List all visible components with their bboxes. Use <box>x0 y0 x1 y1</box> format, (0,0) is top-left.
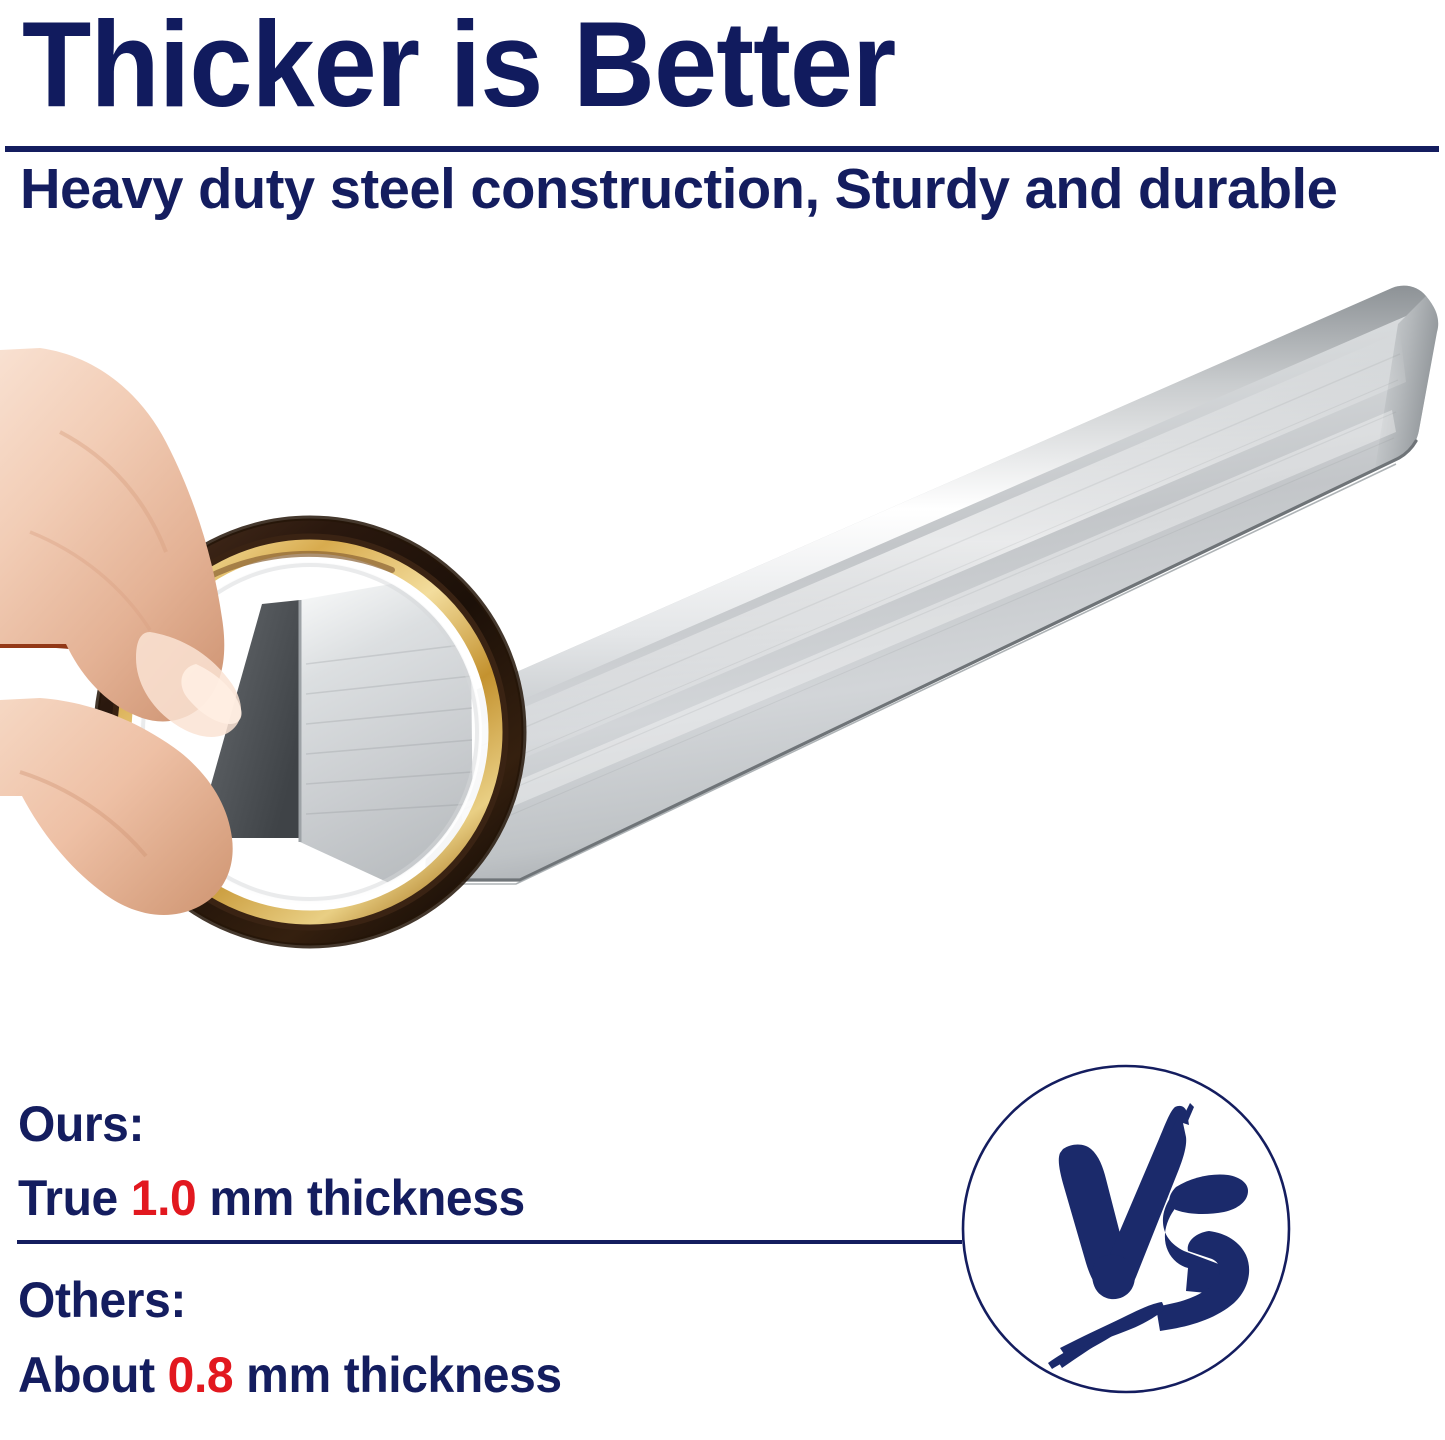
product-photo <box>0 232 1445 1042</box>
ours-value-suffix: mm thickness <box>196 1170 524 1226</box>
product-infographic: Thicker is Better Heavy duty steel const… <box>0 0 1445 1440</box>
ours-thickness-number: 1.0 <box>131 1170 197 1226</box>
others-value-suffix: mm thickness <box>233 1347 561 1403</box>
ours-value: True 1.0 mm thickness <box>18 1170 525 1226</box>
vs-brush-letters <box>1048 1103 1249 1369</box>
hand <box>0 348 242 915</box>
others-thickness-number: 0.8 <box>168 1347 234 1403</box>
others-value-prefix: About <box>18 1347 168 1403</box>
others-label: Others: <box>18 1272 186 1328</box>
bar-secondary-highlight <box>420 410 1396 844</box>
ours-value-prefix: True <box>18 1170 131 1226</box>
page-title: Thicker is Better <box>22 0 895 134</box>
steel-angle-bar <box>420 286 1438 884</box>
header: Thicker is Better Heavy duty steel const… <box>0 0 1445 230</box>
product-illustration <box>0 232 1445 1042</box>
bar-specular-highlight <box>420 332 1406 798</box>
comparison-divider <box>17 1240 962 1244</box>
comparison-section: Ours: True 1.0 mm thickness Others: Abou… <box>0 1070 1445 1440</box>
title-divider <box>5 146 1439 152</box>
vs-s-top-stroke <box>1169 1175 1248 1215</box>
others-value: About 0.8 mm thickness <box>18 1347 562 1403</box>
vs-badge-graphic <box>960 1063 1292 1395</box>
ours-label: Ours: <box>18 1096 144 1152</box>
page-subtitle: Heavy duty steel construction, Sturdy an… <box>20 156 1337 222</box>
vs-badge <box>960 1063 1292 1395</box>
